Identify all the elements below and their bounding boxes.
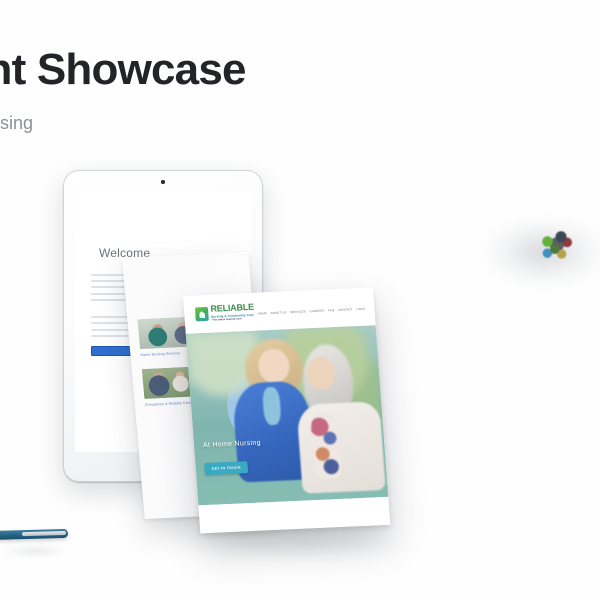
logo-tagline: "The whole hearted care" — [211, 318, 255, 323]
nav-item-services[interactable]: SERVICES — [290, 309, 306, 314]
page-subtitle: e Nursing — [0, 113, 33, 134]
logo-text: RELIABLE Nursing & Community Care "The w… — [210, 303, 255, 323]
get-in-touch-button[interactable]: GET IN TOUCH — [204, 461, 248, 475]
hero-person-two-pattern — [310, 413, 343, 479]
site-logo[interactable]: RELIABLE Nursing & Community Care "The w… — [195, 303, 255, 323]
hero-banner: At Home Nursing GET IN TOUCH — [186, 325, 388, 505]
nav-item-faq[interactable]: FAQ — [328, 308, 335, 312]
nav-item-links[interactable]: LINKS — [356, 307, 365, 311]
page-title: tant Showcase — [0, 45, 246, 95]
desk-object-cluster — [533, 225, 582, 267]
nav-item-about[interactable]: ABOUT US — [270, 310, 286, 315]
pen-shadow — [0, 543, 90, 559]
slide-canvas: tant Showcase e Nursing Welcome Home Nur… — [0, 0, 600, 600]
nav-item-home[interactable]: HOME — [258, 311, 268, 315]
nav-item-careers[interactable]: CAREERS — [309, 309, 324, 314]
hero-person-two-body — [296, 401, 386, 494]
camera-icon — [161, 180, 165, 184]
nav-item-contact[interactable]: CONTACT — [338, 307, 353, 312]
blue-pen — [0, 529, 68, 540]
website-mockup[interactable]: RELIABLE Nursing & Community Care "The w… — [183, 287, 390, 533]
site-nav[interactable]: HOME ABOUT US SERVICES CAREERS FAQ CONTA… — [258, 307, 366, 316]
house-icon — [195, 307, 209, 322]
